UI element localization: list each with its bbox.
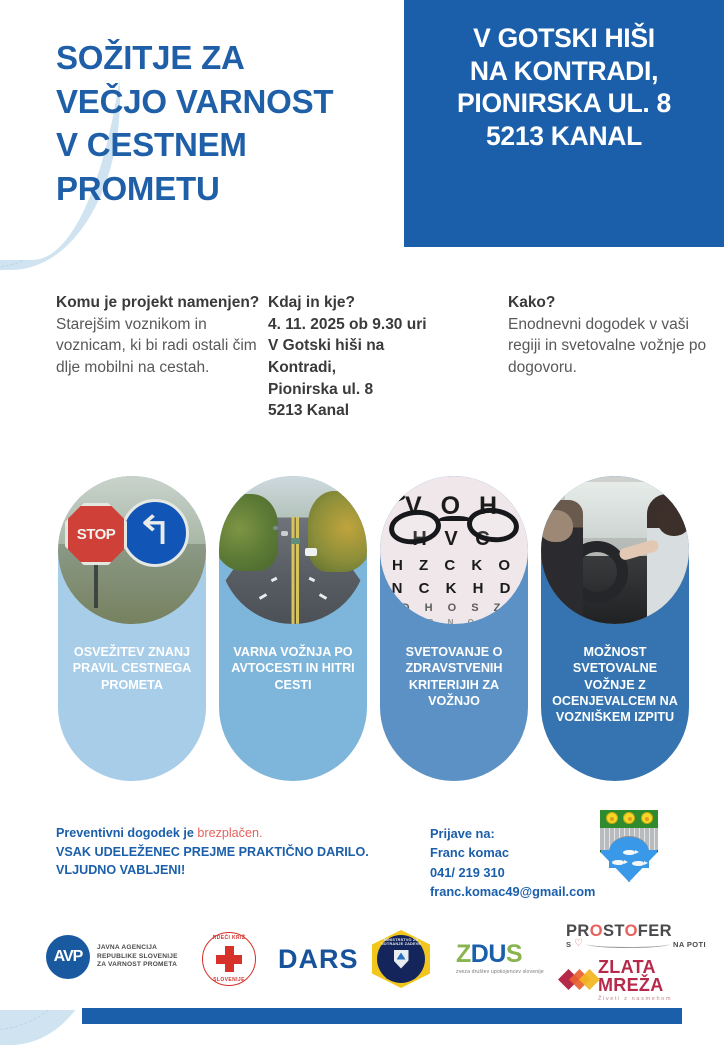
flower-icon	[641, 812, 653, 824]
card-label: MOŽNOST SVETOVALNE VOŽNJE Z OCENJEVALCEM…	[547, 644, 683, 726]
smile-curve-icon	[586, 940, 670, 948]
driver-figure	[541, 500, 583, 624]
footer-notes: Preventivni dogodek je brezplačen. VSAK …	[56, 824, 406, 880]
info-column-audience: Komu je projekt namenjen? Starejšim vozn…	[56, 292, 261, 379]
red-cross-bottom-text: SLOVENIJE	[202, 977, 256, 983]
car-icon	[291, 538, 300, 544]
car-icon	[273, 526, 278, 530]
logo-zdus: ZDUS zveza društev upokojencev slovenije	[456, 942, 574, 975]
turn-left-sign-icon: ↰	[121, 499, 189, 567]
info-column-when-where: Kdaj in kje? 4. 11. 2025 ob 9.30 uri V G…	[268, 292, 498, 422]
zdus-z: Z	[456, 940, 471, 968]
info-question-audience: Komu je projekt namenjen?	[56, 292, 261, 314]
municipality-coat-of-arms-icon	[600, 810, 658, 882]
zdus-subtitle: zveza društev upokojencev slovenije	[456, 969, 574, 975]
logo-dars: DARS	[278, 944, 359, 975]
flower-icon	[606, 812, 618, 824]
car-icon	[281, 531, 288, 536]
prostofer-o1: O	[590, 922, 603, 940]
car-interior-photo	[541, 476, 689, 624]
info-answer-when-where: 4. 11. 2025 ob 9.30 uri V Gotski hiši na…	[268, 314, 498, 422]
venue-line-1: V GOTSKI HIŠI	[416, 22, 712, 55]
prostofer-post: FER	[638, 922, 672, 940]
police-shield-icon	[394, 950, 409, 969]
card-traffic-rules: ↰ STOP OSVEŽITEV ZNANJ PRAVIL CESTNEGA P…	[58, 476, 206, 781]
page-title: SOŽITJE ZA VEČJO VARNOST V CESTNEM PROME…	[56, 36, 386, 210]
eye-chart-row: V R N O D	[380, 618, 528, 624]
card-label: VARNA VOŽNJA PO AVTOCESTI IN HITRI CESTI	[225, 644, 361, 693]
footer-free-prefix: Preventivni dogodek je	[56, 826, 197, 840]
avp-mark-icon: AVP	[46, 935, 90, 979]
venue-line-4: 5213 KANAL	[416, 120, 712, 153]
logo-zlata-mreza: ZLATA MREŽA Živeti z nasmehom	[558, 962, 710, 998]
logo-police: MINISTRSTVO ZA NOTRANJE ZADEVE POLICIJA	[372, 930, 430, 988]
prostofer-pre: PR	[566, 922, 590, 940]
poster-header: SOŽITJE ZA VEČJO VARNOST V CESTNEM PROME…	[0, 0, 724, 250]
title-line-4: PROMETU	[56, 167, 386, 211]
car-icon	[305, 548, 317, 556]
prostofer-mid: ST	[603, 922, 625, 940]
bottom-accent-bar	[82, 1008, 682, 1024]
info-question-how: Kako?	[508, 292, 713, 314]
logo-avp: AVP JAVNA AGENCIJA REPUBLIKE SLOVENIJE Z…	[46, 934, 206, 980]
info-answer-audience: Starejšim voznikom in voznicam, ki bi ra…	[56, 314, 261, 379]
zlata-mreza-mark-icon	[558, 967, 593, 993]
eye-chart-row: D H O S Z	[380, 602, 528, 614]
program-cards: ↰ STOP OSVEŽITEV ZNANJ PRAVIL CESTNEGA P…	[0, 476, 724, 791]
fish-icon	[623, 850, 635, 855]
footer-free-note: Preventivni dogodek je brezplačen.	[56, 824, 406, 843]
logo-red-cross-slovenia: RDEČI KRIŽ SLOVENIJE	[202, 932, 256, 986]
avp-logo-text: JAVNA AGENCIJA REPUBLIKE SLOVENIJE ZA VA…	[97, 944, 178, 971]
stop-sign-label: STOP	[77, 526, 116, 543]
zlata-mreza-subtitle: Živeti z nasmehom	[598, 996, 710, 1002]
info-columns: Komu je projekt namenjen? Starejšim vozn…	[0, 292, 724, 462]
zdus-du: DU	[471, 940, 506, 968]
card-label: SVETOVANJE O ZDRAVSTVENIH KRITERIJIH ZA …	[386, 644, 522, 709]
highway-photo	[219, 476, 367, 624]
eyeglasses-icon	[380, 494, 528, 556]
police-top-text: MINISTRSTVO ZA NOTRANJE ZADEVE	[372, 938, 430, 946]
poster-sheet: SOŽITJE ZA VEČJO VARNOST V CESTNEM PROME…	[0, 0, 724, 1024]
red-cross-top-text: RDEČI KRIŽ	[202, 935, 256, 941]
partner-logos: AVP JAVNA AGENCIJA REPUBLIKE SLOVENIJE Z…	[0, 918, 724, 1004]
title-line-2: VEČJO VARNOST	[56, 80, 386, 124]
title-line-1: SOŽITJE ZA	[56, 36, 386, 80]
venue-banner: V GOTSKI HIŠI NA KONTRADI, PIONIRSKA UL.…	[404, 0, 724, 247]
zdus-s: S	[506, 940, 522, 968]
info-column-how: Kako? Enodnevni dogodek v vaši regiji in…	[508, 292, 713, 379]
prostofer-o2: O	[625, 922, 638, 940]
info-answer-how: Enodnevni dogodek v vaši regiji in sveto…	[508, 314, 713, 379]
info-question-when-where: Kdaj in kje?	[268, 292, 498, 314]
venue-line-3: PIONIRSKA UL. 8	[416, 87, 712, 120]
sign-pole	[94, 562, 98, 608]
footer-free-word: brezplačen.	[197, 826, 262, 840]
red-cross-icon	[216, 946, 242, 972]
traffic-signs-photo: ↰ STOP	[58, 476, 206, 624]
flower-icon	[623, 812, 635, 824]
card-label: OSVEŽITEV ZNANJ PRAVIL CESTNEGA PROMETA	[64, 644, 200, 693]
fish-icon	[612, 860, 624, 865]
fish-icon	[632, 861, 644, 866]
footer-welcome-note: VLJUDNO VABLJENI!	[56, 861, 406, 880]
eye-chart-row: N C K H D	[380, 580, 528, 597]
card-highway-driving: VARNA VOŽNJA PO AVTOCESTI IN HITRI CESTI	[219, 476, 367, 781]
eye-chart-photo: V O H H V C H Z C K O N C K H D D H O S …	[380, 476, 528, 624]
contact-email[interactable]: franc.komac49@gmail.com	[430, 882, 660, 901]
card-advisory-drive: MOŽNOST SVETOVALNE VOŽNJE Z OCENJEVALCEM…	[541, 476, 689, 781]
eye-chart-row: H Z C K O	[380, 557, 528, 574]
card-health-criteria: V O H H V C H Z C K O N C K H D D H O S …	[380, 476, 528, 781]
police-word: POLICIJA	[372, 975, 430, 981]
venue-line-2: NA KONTRADI,	[416, 55, 712, 88]
passenger-figure	[647, 494, 689, 624]
footer-gift-note: VSAK UDELEŽENEC PREJME PRAKTIČNO DARILO.	[56, 843, 406, 862]
logo-prostofer: PROSTOFER S ♡ NA POTI	[566, 922, 706, 958]
title-line-3: V CESTNEM	[56, 123, 386, 167]
zlata-mreza-word: ZLATA MREŽA	[598, 958, 710, 994]
